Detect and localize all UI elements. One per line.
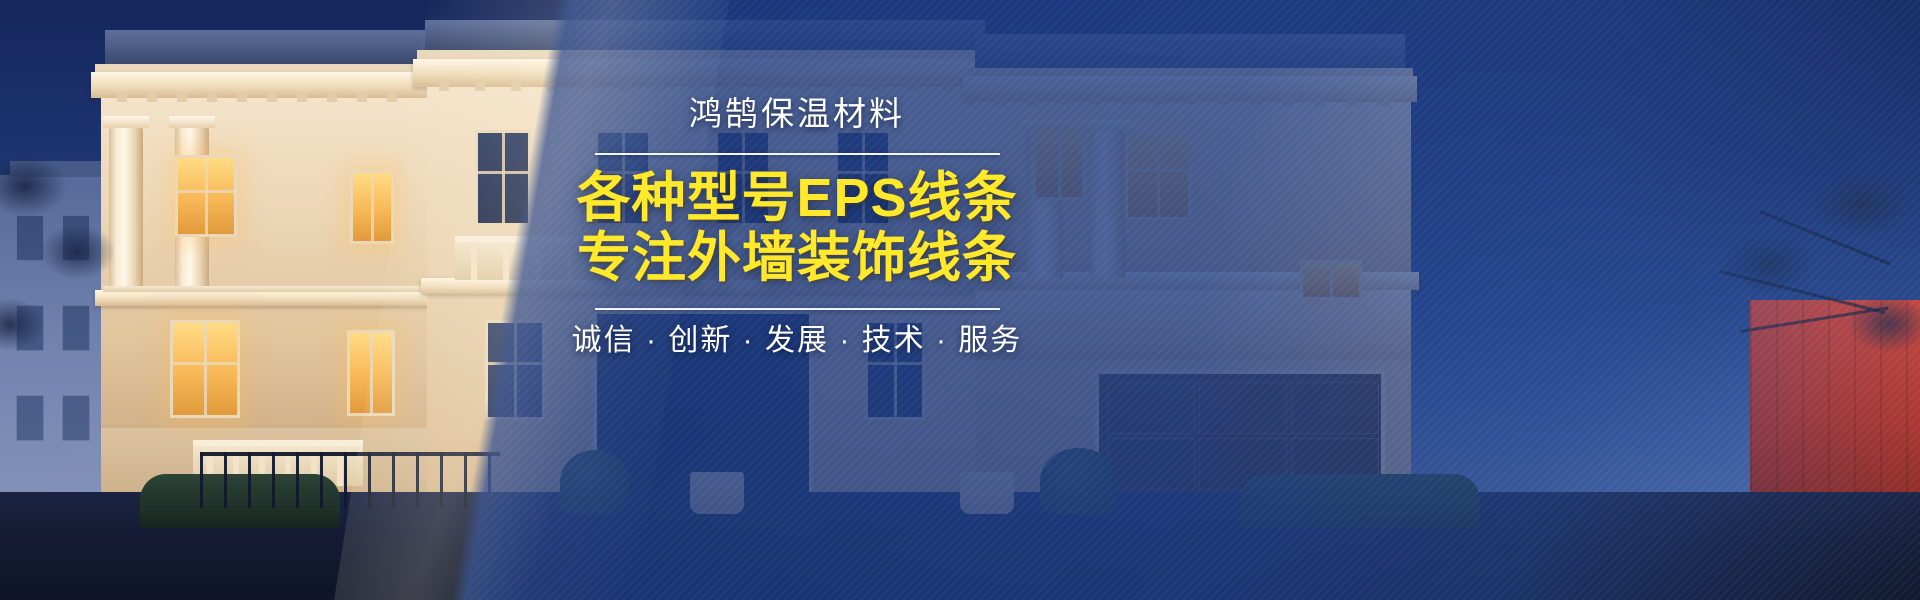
headline-line-1: 各种型号EPS线条	[562, 169, 1032, 228]
divider-top	[595, 153, 1000, 155]
headline-line-2: 专注外墙装饰线条	[562, 229, 1032, 288]
divider-bottom	[595, 308, 1000, 310]
promotional-banner: 鸿鹄保温材料 各种型号EPS线条 专注外墙装饰线条 诚信 · 创新 · 发展 ·…	[0, 0, 1920, 600]
banner-copy-block: 鸿鹄保温材料 各种型号EPS线条 专注外墙装饰线条 诚信 · 创新 · 发展 ·…	[562, 96, 1032, 359]
tagline: 诚信 · 创新 · 发展 · 技术 · 服务	[562, 323, 1032, 359]
brand-name: 鸿鹄保温材料	[562, 96, 1032, 132]
